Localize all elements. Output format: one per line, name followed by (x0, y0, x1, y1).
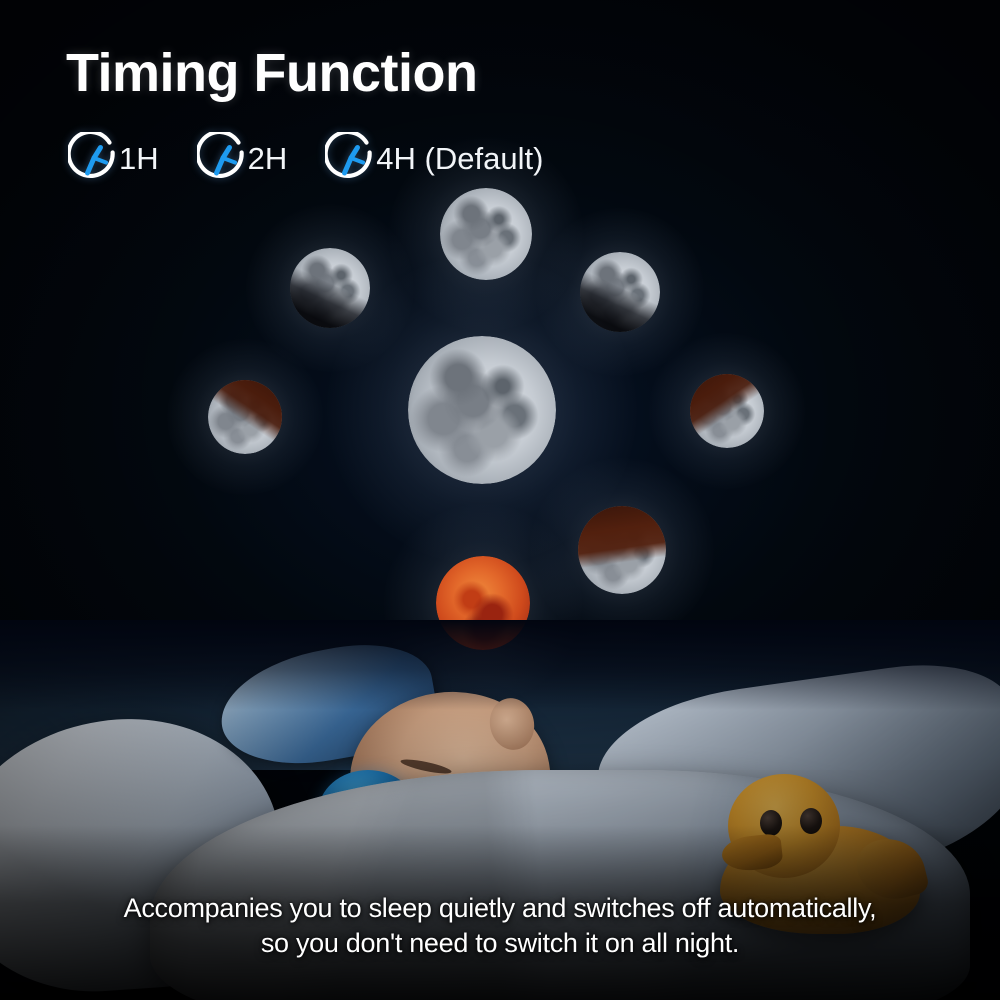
page-title: Timing Function (66, 46, 477, 100)
moon-upper-left-shadow (290, 248, 370, 328)
moon-lower-right-shadow (578, 506, 666, 594)
caption-line-1: Accompanies you to sleep quietly and swi… (70, 891, 930, 927)
moon-blood (436, 556, 530, 650)
moon-top-surface (440, 188, 532, 280)
timing-options-row: 1H 2H 4H (Default) (68, 132, 543, 184)
duck-head (728, 774, 840, 878)
moon-upper-left (290, 248, 370, 328)
moon-center-full (408, 336, 556, 484)
moon-blood-surface (436, 556, 530, 650)
moon-left (208, 380, 282, 454)
moon-upper-right (580, 252, 660, 332)
duck-eye (800, 808, 822, 834)
timing-option-2h[interactable]: 2H (197, 132, 288, 184)
clock-icon (325, 132, 377, 184)
caption: Accompanies you to sleep quietly and swi… (0, 891, 1000, 962)
moon-lower-right (578, 506, 666, 594)
timing-option-label: 4H (Default) (376, 143, 543, 174)
clock-icon (68, 132, 120, 184)
timing-option-1h[interactable]: 1H (68, 132, 159, 184)
moon-right (690, 374, 764, 448)
timing-option-label: 1H (119, 143, 159, 174)
duck-eye (760, 810, 782, 836)
moon-left-umbra (208, 380, 282, 454)
moon-top (440, 188, 532, 280)
timing-option-4h[interactable]: 4H (Default) (325, 132, 543, 184)
moon-right-umbra (690, 374, 764, 448)
moon-upper-right-shadow (580, 252, 660, 332)
caption-line-2: so you don't need to switch it on all ni… (70, 926, 930, 962)
timing-option-label: 2H (248, 143, 288, 174)
clock-icon (197, 132, 249, 184)
product-feature-image: Timing Function 1H 2H (0, 0, 1000, 1000)
moon-center-full-surface (408, 336, 556, 484)
